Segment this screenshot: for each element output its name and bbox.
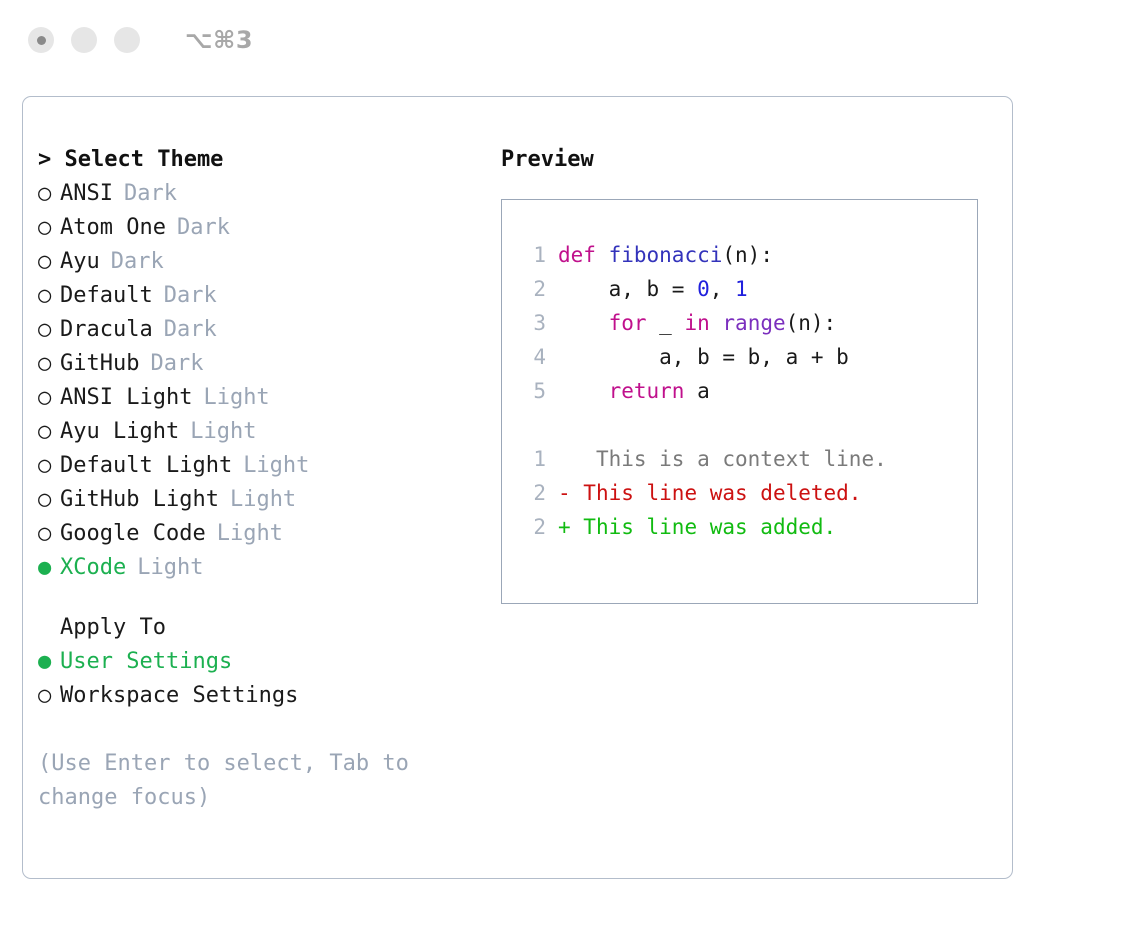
- theme-option-variant-tag: Dark: [150, 347, 203, 381]
- window-controls: [28, 27, 140, 53]
- window-dot-active[interactable]: [28, 27, 54, 53]
- preview-box: 1def fibonacci(n):2 a, b = 0, 13 for _ i…: [501, 199, 978, 604]
- code-token-fn: fibonacci: [609, 243, 723, 267]
- theme-option-row[interactable]: ○DraculaDark: [38, 313, 483, 347]
- code-token-plain: [710, 311, 723, 335]
- theme-option-name: Default Light: [60, 449, 232, 483]
- apply-to-option-row[interactable]: ○Workspace Settings: [38, 679, 483, 713]
- theme-option-variant-tag: Dark: [124, 177, 177, 211]
- theme-option-row[interactable]: ○ANSI LightLight: [38, 381, 483, 415]
- theme-option-variant-tag: Dark: [177, 211, 230, 245]
- apply-to-header: Apply To: [38, 611, 483, 645]
- app-root: ⌥⌘3 > Select Theme ○ANSIDark○Atom OneDar…: [0, 0, 1140, 934]
- code-token-num: 0: [697, 277, 710, 301]
- radio-selected-icon: ●: [38, 551, 60, 585]
- theme-option-variant-tag: Light: [230, 483, 296, 517]
- code-line-content: for _ in range(n):: [558, 306, 836, 340]
- diff-line-content: This is a context line.: [583, 442, 886, 476]
- theme-option-name: Ayu: [60, 245, 100, 279]
- apply-to-list: ●User Settings○Workspace Settings: [38, 645, 483, 713]
- code-line: 3 for _ in range(n):: [516, 306, 977, 340]
- theme-option-name: Default: [60, 279, 153, 313]
- code-line-number: 2: [516, 272, 546, 306]
- theme-option-variant-tag: Light: [243, 449, 309, 483]
- diff-line: 2- This line was deleted.: [516, 476, 977, 510]
- theme-option-row[interactable]: ●XCodeLight: [38, 551, 483, 585]
- theme-option-row[interactable]: ○Default LightLight: [38, 449, 483, 483]
- code-line: 1def fibonacci(n):: [516, 238, 977, 272]
- code-token-plain: (n):: [786, 311, 837, 335]
- code-line: 5 return a: [516, 374, 977, 408]
- theme-option-row[interactable]: ○Atom OneDark: [38, 211, 483, 245]
- keyboard-shortcut-label: ⌥⌘3: [185, 26, 253, 54]
- diff-line-content: This line was added.: [583, 510, 836, 544]
- code-line-number: 3: [516, 306, 546, 340]
- radio-unselected-icon: ○: [38, 177, 60, 211]
- radio-selected-icon: ●: [38, 645, 60, 679]
- diff-line-number: 2: [516, 510, 546, 544]
- diff-sample: 1 This is a context line.2- This line wa…: [516, 442, 977, 544]
- code-line-number: 1: [516, 238, 546, 272]
- code-token-plain: a: [684, 379, 709, 403]
- theme-option-name: Atom One: [60, 211, 166, 245]
- theme-option-variant-tag: Light: [217, 517, 283, 551]
- theme-option-row[interactable]: ○GitHubDark: [38, 347, 483, 381]
- code-token-plain: [558, 379, 609, 403]
- code-line-content: a, b = b, a + b: [558, 340, 849, 374]
- radio-unselected-icon: ○: [38, 449, 60, 483]
- code-line: 2 a, b = 0, 1: [516, 272, 977, 306]
- theme-option-name: GitHub Light: [60, 483, 219, 517]
- code-token-plain: ,: [710, 277, 735, 301]
- code-token-plain: _: [647, 311, 685, 335]
- code-token-plain: [596, 243, 609, 267]
- code-line: 4 a, b = b, a + b: [516, 340, 977, 374]
- theme-option-variant-tag: Dark: [164, 279, 217, 313]
- code-token-plain: (n):: [722, 243, 773, 267]
- theme-option-name: ANSI: [60, 177, 113, 211]
- apply-to-option-name: Workspace Settings: [60, 679, 298, 713]
- theme-option-name: XCode: [60, 551, 126, 585]
- radio-unselected-icon: ○: [38, 381, 60, 415]
- code-line-number: 5: [516, 374, 546, 408]
- radio-unselected-icon: ○: [38, 313, 60, 347]
- apply-to-option-name: User Settings: [60, 645, 232, 679]
- diff-line-number: 2: [516, 476, 546, 510]
- theme-option-variant-tag: Light: [203, 381, 269, 415]
- theme-option-variant-tag: Light: [137, 551, 203, 585]
- window-dot-active-inner: [37, 36, 46, 45]
- diff-line-marker: [558, 442, 583, 476]
- code-token-plain: a, b =: [558, 277, 697, 301]
- theme-option-row[interactable]: ○DefaultDark: [38, 279, 483, 313]
- code-token-kw: in: [684, 311, 709, 335]
- theme-option-row[interactable]: ○Ayu LightLight: [38, 415, 483, 449]
- diff-line: 2+ This line was added.: [516, 510, 977, 544]
- code-token-plain: a, b = b, a + b: [558, 345, 849, 369]
- radio-unselected-icon: ○: [38, 279, 60, 313]
- apply-to-option-row[interactable]: ●User Settings: [38, 645, 483, 679]
- code-diff-spacer: [516, 408, 977, 442]
- theme-option-name: Ayu Light: [60, 415, 179, 449]
- code-token-num: 1: [735, 277, 748, 301]
- code-line-number: 4: [516, 340, 546, 374]
- radio-unselected-icon: ○: [38, 679, 60, 713]
- theme-option-variant-tag: Light: [190, 415, 256, 449]
- theme-option-row[interactable]: ○ANSIDark: [38, 177, 483, 211]
- code-line-content: a, b = 0, 1: [558, 272, 748, 306]
- apply-to-section: Apply To ●User Settings○Workspace Settin…: [38, 611, 483, 713]
- code-token-kw: def: [558, 243, 596, 267]
- diff-line-marker: -: [558, 476, 583, 510]
- radio-unselected-icon: ○: [38, 483, 60, 517]
- code-line-content: def fibonacci(n):: [558, 238, 773, 272]
- theme-option-row[interactable]: ○Google CodeLight: [38, 517, 483, 551]
- code-line-content: return a: [558, 374, 710, 408]
- radio-unselected-icon: ○: [38, 245, 60, 279]
- radio-unselected-icon: ○: [38, 347, 60, 381]
- preview-label: Preview: [501, 143, 991, 177]
- radio-unselected-icon: ○: [38, 415, 60, 449]
- theme-option-row[interactable]: ○AyuDark: [38, 245, 483, 279]
- keyboard-hint-text: (Use Enter to select, Tab to change focu…: [38, 747, 438, 815]
- code-token-kw: return: [609, 379, 685, 403]
- titlebar: ⌥⌘3: [0, 0, 1140, 80]
- theme-selector-panel: > Select Theme ○ANSIDark○Atom OneDark○Ay…: [38, 143, 483, 815]
- theme-option-name: Google Code: [60, 517, 206, 551]
- code-token-plain: [558, 311, 609, 335]
- window-dot-2[interactable]: [71, 27, 97, 53]
- theme-option-row[interactable]: ○GitHub LightLight: [38, 483, 483, 517]
- radio-unselected-icon: ○: [38, 517, 60, 551]
- code-token-kw: for: [609, 311, 647, 335]
- diff-line-number: 1: [516, 442, 546, 476]
- theme-option-name: Dracula: [60, 313, 153, 347]
- preview-panel: Preview 1def fibonacci(n):2 a, b = 0, 13…: [501, 143, 991, 604]
- select-theme-header: > Select Theme: [38, 143, 483, 177]
- diff-line-marker: +: [558, 510, 583, 544]
- diff-line: 1 This is a context line.: [516, 442, 977, 476]
- theme-option-variant-tag: Dark: [111, 245, 164, 279]
- theme-option-name: GitHub: [60, 347, 139, 381]
- theme-option-variant-tag: Dark: [164, 313, 217, 347]
- theme-option-name: ANSI Light: [60, 381, 192, 415]
- diff-line-content: This line was deleted.: [583, 476, 861, 510]
- code-sample: 1def fibonacci(n):2 a, b = 0, 13 for _ i…: [516, 238, 977, 408]
- theme-list: ○ANSIDark○Atom OneDark○AyuDark○DefaultDa…: [38, 177, 483, 585]
- code-token-builtin: range: [722, 311, 785, 335]
- window-dot-3[interactable]: [114, 27, 140, 53]
- radio-unselected-icon: ○: [38, 211, 60, 245]
- main-window-panel: > Select Theme ○ANSIDark○Atom OneDark○Ay…: [22, 96, 1013, 879]
